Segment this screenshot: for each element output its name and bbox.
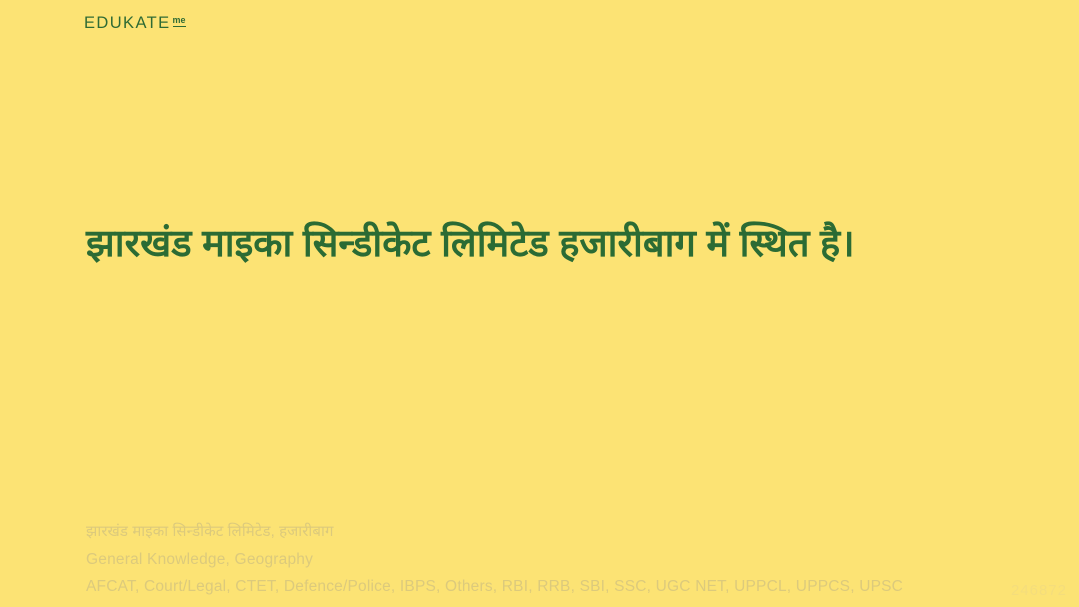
footer-tags: AFCAT, Court/Legal, CTET, Defence/Police…	[86, 573, 1046, 601]
slide-headline: झारखंड माइका सिन्डीकेट लिमिटेड हजारीबाग …	[86, 218, 986, 272]
watermark-id: 246872	[1011, 582, 1067, 599]
slide-canvas: EDUKATE me झारखंड माइका सिन्डीकेट लिमिटे…	[0, 0, 1079, 607]
brand-logo: EDUKATE me	[84, 15, 186, 32]
footer-category: General Knowledge, Geography	[86, 546, 1046, 574]
brand-name: EDUKATE	[84, 15, 171, 32]
footer-meta: झारखंड माइका सिन्डीकेट लिमिटेड, हजारीबाग…	[86, 519, 1046, 601]
brand-superscript: me	[173, 16, 186, 27]
footer-title: झारखंड माइका सिन्डीकेट लिमिटेड, हजारीबाग	[86, 519, 1046, 546]
